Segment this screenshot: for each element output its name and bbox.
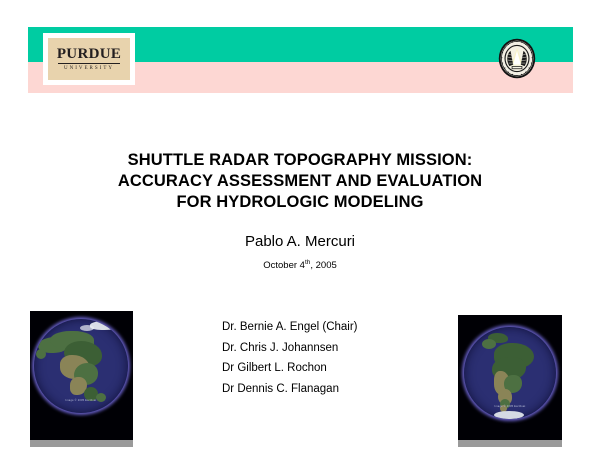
title-line-3: FOR HYDROLOGIC MODELING	[0, 192, 600, 213]
globe-image-north-america: Image © 2005 Earthsat	[30, 311, 133, 447]
purdue-logo-subtitle: UNIVERSITY	[64, 66, 114, 71]
presentation-slide: PURDUE UNIVERSITY	[0, 0, 600, 464]
presentation-date: October 4th, 2005	[0, 259, 600, 272]
date-year: , 2005	[310, 260, 336, 271]
purdue-wordmark: PURDUE	[57, 47, 121, 62]
committee-list: Dr. Bernie A. Engel (Chair) Dr. Chris J.…	[222, 317, 482, 399]
committee-member-2: Dr. Chris J. Johannsen	[222, 338, 482, 359]
globe-right-sphere: Image © 2005 Earthsat	[464, 327, 556, 419]
title-line-1: SHUTTLE RADAR TOPOGRAPHY MISSION:	[0, 150, 600, 171]
globe-left-sphere: Image © 2005 Earthsat	[34, 319, 128, 413]
committee-member-3: Dr Gilbert L. Rochon	[222, 358, 482, 379]
slide-title: SHUTTLE RADAR TOPOGRAPHY MISSION: ACCURA…	[0, 150, 600, 213]
globe-right-statusbar	[458, 440, 562, 447]
globe-right-attribution: Image © 2005 Earthsat	[464, 406, 556, 409]
globe-left-attribution: Image © 2005 Earthsat	[34, 400, 128, 403]
date-month-day: October 4	[263, 260, 305, 271]
author-name: Pablo A. Mercuri	[0, 233, 600, 251]
globe-left-statusbar	[30, 440, 133, 447]
committee-member-1: Dr. Bernie A. Engel (Chair)	[222, 317, 482, 338]
purdue-seal-icon	[498, 38, 536, 79]
purdue-logo: PURDUE UNIVERSITY	[43, 33, 135, 85]
committee-member-4: Dr Dennis C. Flanagan	[222, 379, 482, 400]
purdue-logo-rule	[58, 63, 120, 64]
globe-image-south-america: Image © 2005 Earthsat	[458, 315, 562, 447]
purdue-logo-plate: PURDUE UNIVERSITY	[48, 38, 130, 80]
title-line-2: ACCURACY ASSESSMENT AND EVALUATION	[0, 171, 600, 192]
